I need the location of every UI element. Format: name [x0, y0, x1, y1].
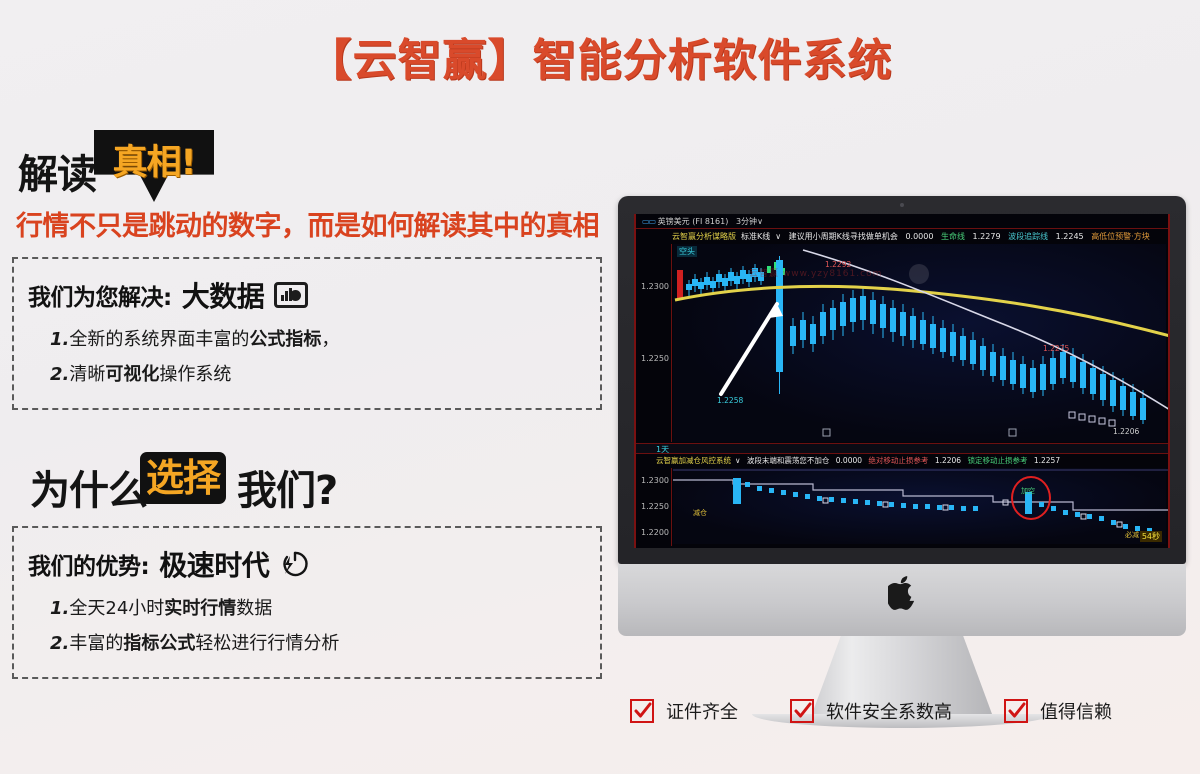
trust-badge-label: 软件安全系数高: [826, 698, 952, 724]
axis-tick-label: 1.2250: [641, 502, 669, 511]
bullet-text-after: 操作系统: [159, 364, 231, 385]
list-item: 2.清晰可视化操作系统: [50, 360, 586, 386]
price-label-high: 1.2292: [825, 260, 851, 269]
trust-badge-label: 证件齐全: [666, 698, 738, 724]
speed-clock-icon: [279, 549, 309, 579]
system-name-label: 云智赢分析谋略版: [672, 232, 736, 241]
countdown-timer: 54秒: [1140, 531, 1162, 542]
period-selector[interactable]: 3分钟: [736, 217, 757, 226]
list-item: 2.丰富的指标公式轻松进行行情分析: [50, 629, 586, 655]
risk-hint-value: 0.0000: [836, 456, 862, 465]
axis-tick-label: 1.2200: [641, 528, 669, 537]
toolbar-hint-value: 0.0000: [905, 232, 933, 241]
menu-dots-icon[interactable]: ▭▭: [642, 217, 655, 226]
bullet-text-before: 清晰: [69, 364, 105, 385]
webcam-icon: [900, 203, 904, 207]
main-price-axis: 1.2300 1.2250: [636, 244, 672, 442]
watermark-badge-icon: [909, 264, 929, 284]
symbol-code: (FI 8161): [692, 217, 728, 226]
price-label-current: 1.2206: [1113, 427, 1139, 436]
speed-title-lead: 我们的优势:: [28, 547, 149, 581]
warn-label: 高低位预警·方块: [1091, 232, 1150, 241]
bigdata-bullet-list: 1.全新的系统界面丰富的公式指标， 2.清晰可视化操作系统: [28, 325, 586, 386]
main-indicator-toolbar[interactable]: 云智赢分析谋略版标准K线∨ 建议用小周期K线寻找做单机会 0.0000 生命线 …: [672, 230, 1166, 243]
chart-divider-bar: 1天: [636, 443, 1168, 454]
axis-tick-label: 1.2300: [641, 282, 669, 291]
feature-box-bigdata-title: 我们为您解决: 大数据: [28, 275, 586, 315]
bullet-text-bold: 公式指标: [249, 329, 321, 350]
trust-badges-row: 证件齐全 软件安全系数高 值得信赖: [630, 698, 1170, 724]
why-heading-part2: 我们?: [237, 458, 337, 516]
watermark-text: 云智赢 www.yzy8161.com: [749, 266, 882, 279]
bullet-text-bold: 实时行情: [164, 598, 236, 619]
headline-why-choose-us: 为什么 选择 我们?: [12, 450, 602, 512]
bullet-text-before: 全天24小时: [69, 598, 164, 619]
trading-software-screen[interactable]: ▭▭ 英镑美元 (FI 8161) 3分钟∨ 云智赢分析谋略版标准K线∨ 建议用…: [634, 214, 1170, 548]
risk-indicator-series: [673, 468, 1170, 544]
check-icon: [790, 699, 814, 723]
chevron-down-icon[interactable]: ∨: [735, 456, 741, 465]
sub-annotation-reduce: 减仓: [693, 508, 707, 518]
axis-tick-label: 1.2300: [641, 476, 669, 485]
sub-price-axis: 1.2300 1.2250 1.2200: [636, 468, 672, 546]
trend-tag: 空头: [677, 246, 697, 257]
bigdata-title-lead: 我们为您解决:: [28, 278, 172, 312]
stop-loss-1-label: 绝对移动止损参考: [868, 456, 928, 465]
feature-box-speed: 我们的优势: 极速时代 1.全天24小时实时行情数据 2.丰富的指标公式轻松进行…: [12, 526, 602, 679]
risk-control-plot[interactable]: 减仓 加空 必减 54秒: [673, 468, 1166, 544]
risk-control-toolbar[interactable]: 云智赢加减仓风控系统∨ 波段末端和震荡您不加仓 0.0000 绝对移动止损参考 …: [656, 455, 1166, 467]
highlight-circle-icon: [1011, 476, 1051, 520]
headline-decode-truth: 解读 真相!: [12, 130, 602, 202]
monitor-chin: [618, 564, 1186, 636]
page-title: 【云智赢】智能分析软件系统: [0, 24, 1200, 88]
why-heading-part1: 为什么: [30, 458, 147, 516]
why-heading-highlight: 选择: [140, 452, 226, 504]
swing-track-label: 波段追踪线: [1008, 232, 1048, 241]
chevron-down-icon[interactable]: ∨: [757, 217, 763, 226]
price-label-low: 1.2258: [717, 396, 743, 405]
bullet-text-before: 丰富的: [69, 633, 123, 654]
risk-system-name: 云智赢加减仓风控系统: [656, 456, 731, 465]
monitor-bezel: ▭▭ 英镑美元 (FI 8161) 3分钟∨ 云智赢分析谋略版标准K线∨ 建议用…: [618, 196, 1186, 564]
left-content-column: 解读 真相! 行情不只是跳动的数字，而是如何解读其中的真相 我们为您解决: 大数…: [12, 130, 602, 679]
chart-report-icon: [274, 282, 308, 308]
bullet-number: 1.: [50, 598, 69, 619]
check-icon: [1004, 699, 1028, 723]
imac-display: ▭▭ 英镑美元 (FI 8161) 3分钟∨ 云智赢分析谋略版标准K线∨ 建议用…: [618, 196, 1186, 728]
trust-badge-label: 值得信赖: [1040, 698, 1112, 724]
trust-badge: 软件安全系数高: [790, 698, 952, 724]
apple-logo-icon: [888, 576, 916, 610]
bullet-text-bold: 可视化: [105, 364, 159, 385]
headline-banner-text: 真相!: [94, 134, 214, 185]
subheadline: 行情不只是跳动的数字，而是如何解读其中的真相: [16, 204, 602, 243]
chevron-down-icon[interactable]: ∨: [775, 232, 781, 241]
swing-track-value: 1.2245: [1056, 232, 1084, 241]
list-item: 1.全新的系统界面丰富的公式指标，: [50, 325, 586, 351]
candlestick-plot[interactable]: 空头 云智赢 www.yzy8161.com: [673, 244, 1166, 442]
divider-label: 1天: [636, 444, 1168, 455]
bullet-text-bold: 指标公式: [123, 633, 195, 654]
stop-loss-1-value: 1.2206: [935, 456, 961, 465]
price-label-mid: 1.2275: [1043, 344, 1069, 353]
headline-banner: 真相!: [94, 130, 214, 202]
stop-loss-2-label: 锁定移动止损参考: [967, 456, 1027, 465]
speed-title-strong: 极速时代: [159, 544, 269, 584]
bullet-text-after: 轻松进行行情分析: [195, 633, 339, 654]
bullet-text-after: 数据: [236, 598, 272, 619]
bullet-number: 2.: [50, 633, 69, 654]
axis-tick-label: 1.2250: [641, 354, 669, 363]
feature-box-bigdata: 我们为您解决: 大数据 1.全新的系统界面丰富的公式指标， 2.清晰可视化操作系…: [12, 257, 602, 410]
lifeline-value: 1.2279: [973, 232, 1001, 241]
stop-loss-2-value: 1.2257: [1034, 456, 1060, 465]
chart-titlebar[interactable]: ▭▭ 英镑美元 (FI 8161) 3分钟∨: [636, 214, 1168, 229]
trust-badge: 证件齐全: [630, 698, 738, 724]
headline-black-text: 解读: [18, 142, 96, 200]
symbol-name[interactable]: 英镑美元: [658, 217, 690, 226]
bigdata-title-strong: 大数据: [182, 275, 265, 315]
speed-bullet-list: 1.全天24小时实时行情数据 2.丰富的指标公式轻松进行行情分析: [28, 594, 586, 655]
bullet-text-before: 全新的系统界面丰富的: [69, 329, 249, 350]
list-item: 1.全天24小时实时行情数据: [50, 594, 586, 620]
risk-hint: 波段末端和震荡您不加仓: [747, 456, 830, 465]
bullet-number: 1.: [50, 329, 69, 350]
bullet-text-after: ，: [321, 329, 339, 350]
lifeline-label: 生命线: [941, 232, 965, 241]
check-icon: [630, 699, 654, 723]
sub-annotation-mustreduce: 必减: [1125, 530, 1139, 540]
toolbar-hint: 建议用小周期K线寻找做单机会: [789, 232, 898, 241]
kline-mode-selector[interactable]: 标准K线: [741, 232, 770, 241]
trust-badge: 值得信赖: [1004, 698, 1112, 724]
bullet-number: 2.: [50, 364, 69, 385]
sub-annotation-addshort: 加空: [1021, 486, 1035, 496]
feature-box-speed-title: 我们的优势: 极速时代: [28, 544, 586, 584]
